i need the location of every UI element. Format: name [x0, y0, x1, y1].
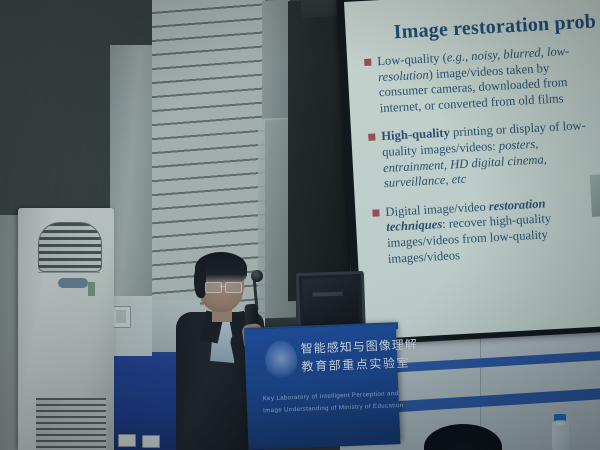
slide-bullet-low-quality: Low-quality (e.g., noisy, blurred, low-r… — [363, 42, 600, 117]
slide-bullet-digital-restoration: Digital image/video restoration techniqu… — [371, 193, 600, 268]
air-conditioner-badge — [88, 282, 95, 296]
air-conditioner-top-grille — [38, 222, 102, 272]
slide-bullet-high-quality: High-quality printing or display of low-… — [367, 118, 600, 193]
bullet-square-icon — [368, 134, 375, 141]
bullet-text-low-quality: Low-quality (e.g., noisy, blurred, low-r… — [377, 44, 570, 115]
air-conditioner-logo — [58, 278, 88, 288]
banner-english-line-2: Image Understanding of Ministry of Educa… — [263, 402, 404, 414]
air-conditioner-side — [0, 215, 20, 450]
microphone-head-icon — [251, 270, 263, 282]
bullet-text-high-quality: High-quality printing or display of low-… — [381, 118, 586, 190]
lab-emblem-icon — [264, 340, 298, 381]
air-conditioner-seam — [38, 272, 100, 273]
power-outlet[interactable] — [142, 435, 160, 448]
slatted-wall-panel-upper-right — [262, 0, 290, 120]
presenter-glasses — [205, 282, 243, 292]
banner-english-line-1: Key Laboratory of Intelligent Perception… — [263, 390, 399, 402]
slide: Image restoration prob Low-quality (e.g.… — [344, 0, 600, 340]
bullet-text-digital-restoration: Digital image/video restoration techniqu… — [385, 196, 551, 265]
bullet-square-icon — [364, 59, 371, 66]
banner-chinese-line-2: 教育部重点实验室 — [301, 354, 410, 375]
power-outlet[interactable] — [118, 434, 136, 447]
lectern-banner-panel: 智能感知与图像理解 教育部重点实验室 Key Laboratory of Int… — [244, 324, 400, 450]
presentation-photo-scene: Image restoration prob Low-quality (e.g.… — [0, 0, 600, 450]
bullet-square-icon — [372, 209, 379, 216]
slide-title: Image restoration prob — [393, 10, 596, 44]
air-conditioner-bottom-grille — [36, 398, 106, 450]
podium-monitor-glare — [313, 292, 343, 297]
glasses-lens-right — [225, 282, 242, 293]
light-switch[interactable] — [112, 306, 131, 328]
slide-body: Low-quality (e.g., noisy, blurred, low-r… — [363, 42, 600, 281]
projection-screen: Image restoration prob Low-quality (e.g.… — [344, 0, 600, 340]
glasses-bridge — [220, 286, 225, 287]
slide-thumbnail-image — [590, 174, 600, 217]
glasses-lens-left — [205, 282, 222, 293]
water-bottle — [552, 421, 569, 450]
